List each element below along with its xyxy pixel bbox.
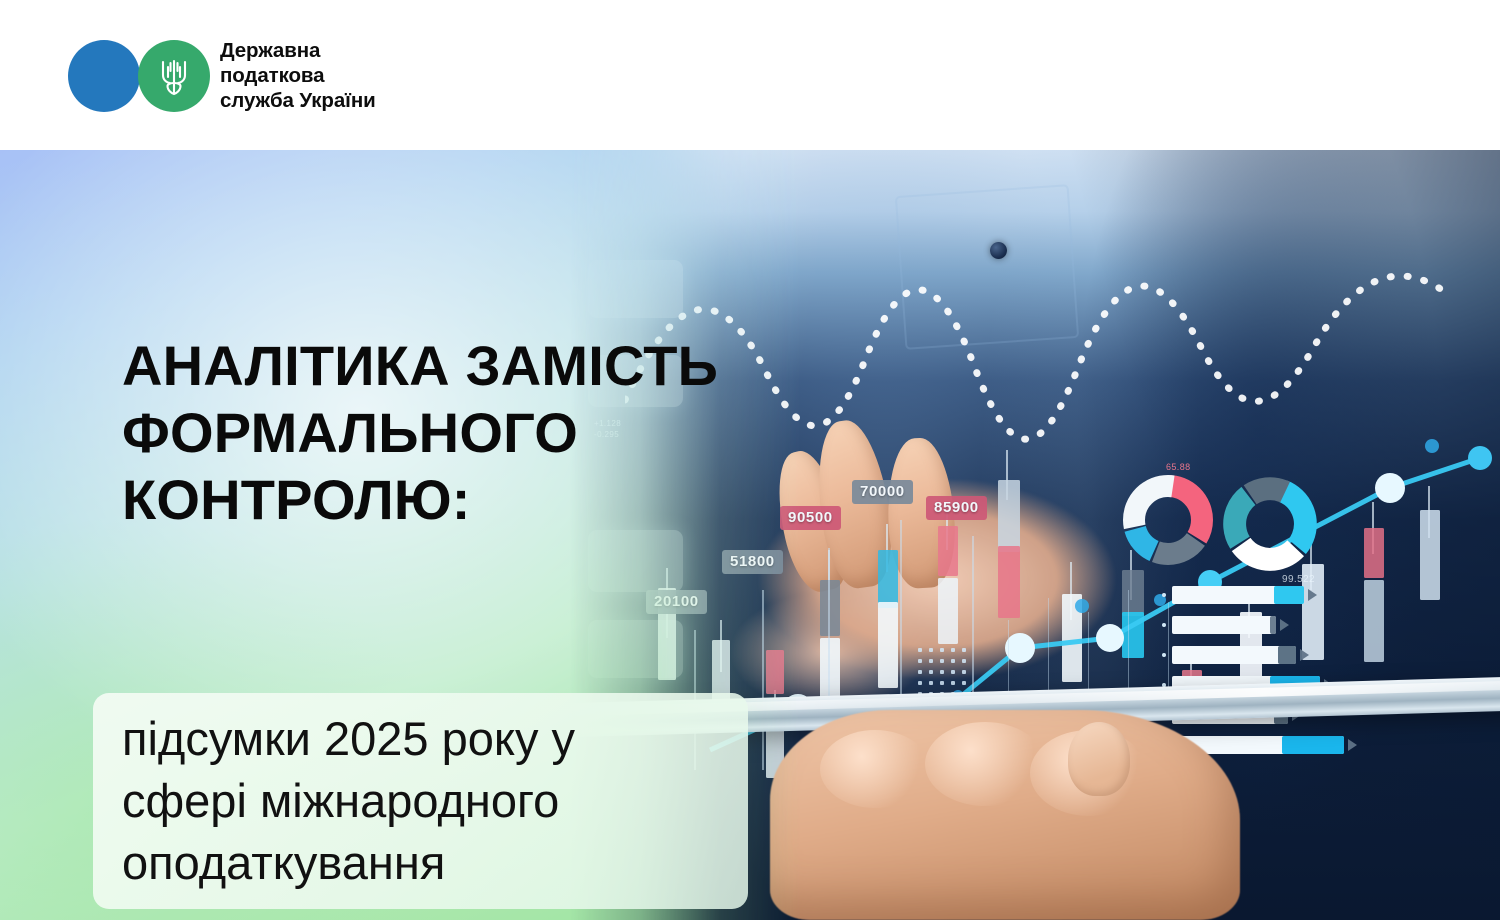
organization-name: Державна податкова служба України — [220, 38, 376, 113]
knuckle — [820, 730, 930, 808]
page-subtitle: підсумки 2025 року у сфері міжнародного … — [122, 708, 762, 894]
header-bar: Державна податкова служба України — [0, 0, 1500, 150]
logo-marks — [68, 40, 210, 112]
logo-green-circle-icon — [138, 40, 210, 112]
shirt-button — [990, 242, 1007, 259]
hero-stage: +1.128 -0.295 — [0, 150, 1500, 920]
logo-blue-circle-icon — [68, 40, 140, 112]
thumbnail — [1068, 722, 1130, 796]
shirt-pocket — [895, 184, 1079, 350]
page-title: АНАЛІТИКА ЗАМІСТЬ ФОРМАЛЬНОГО КОНТРОЛЮ: — [122, 332, 852, 533]
knuckle — [925, 722, 1045, 806]
organization-logo[interactable]: Державна податкова служба України — [68, 38, 376, 113]
trident-icon — [157, 55, 191, 97]
promo-banner: Державна податкова служба України +1.1 — [0, 0, 1500, 920]
